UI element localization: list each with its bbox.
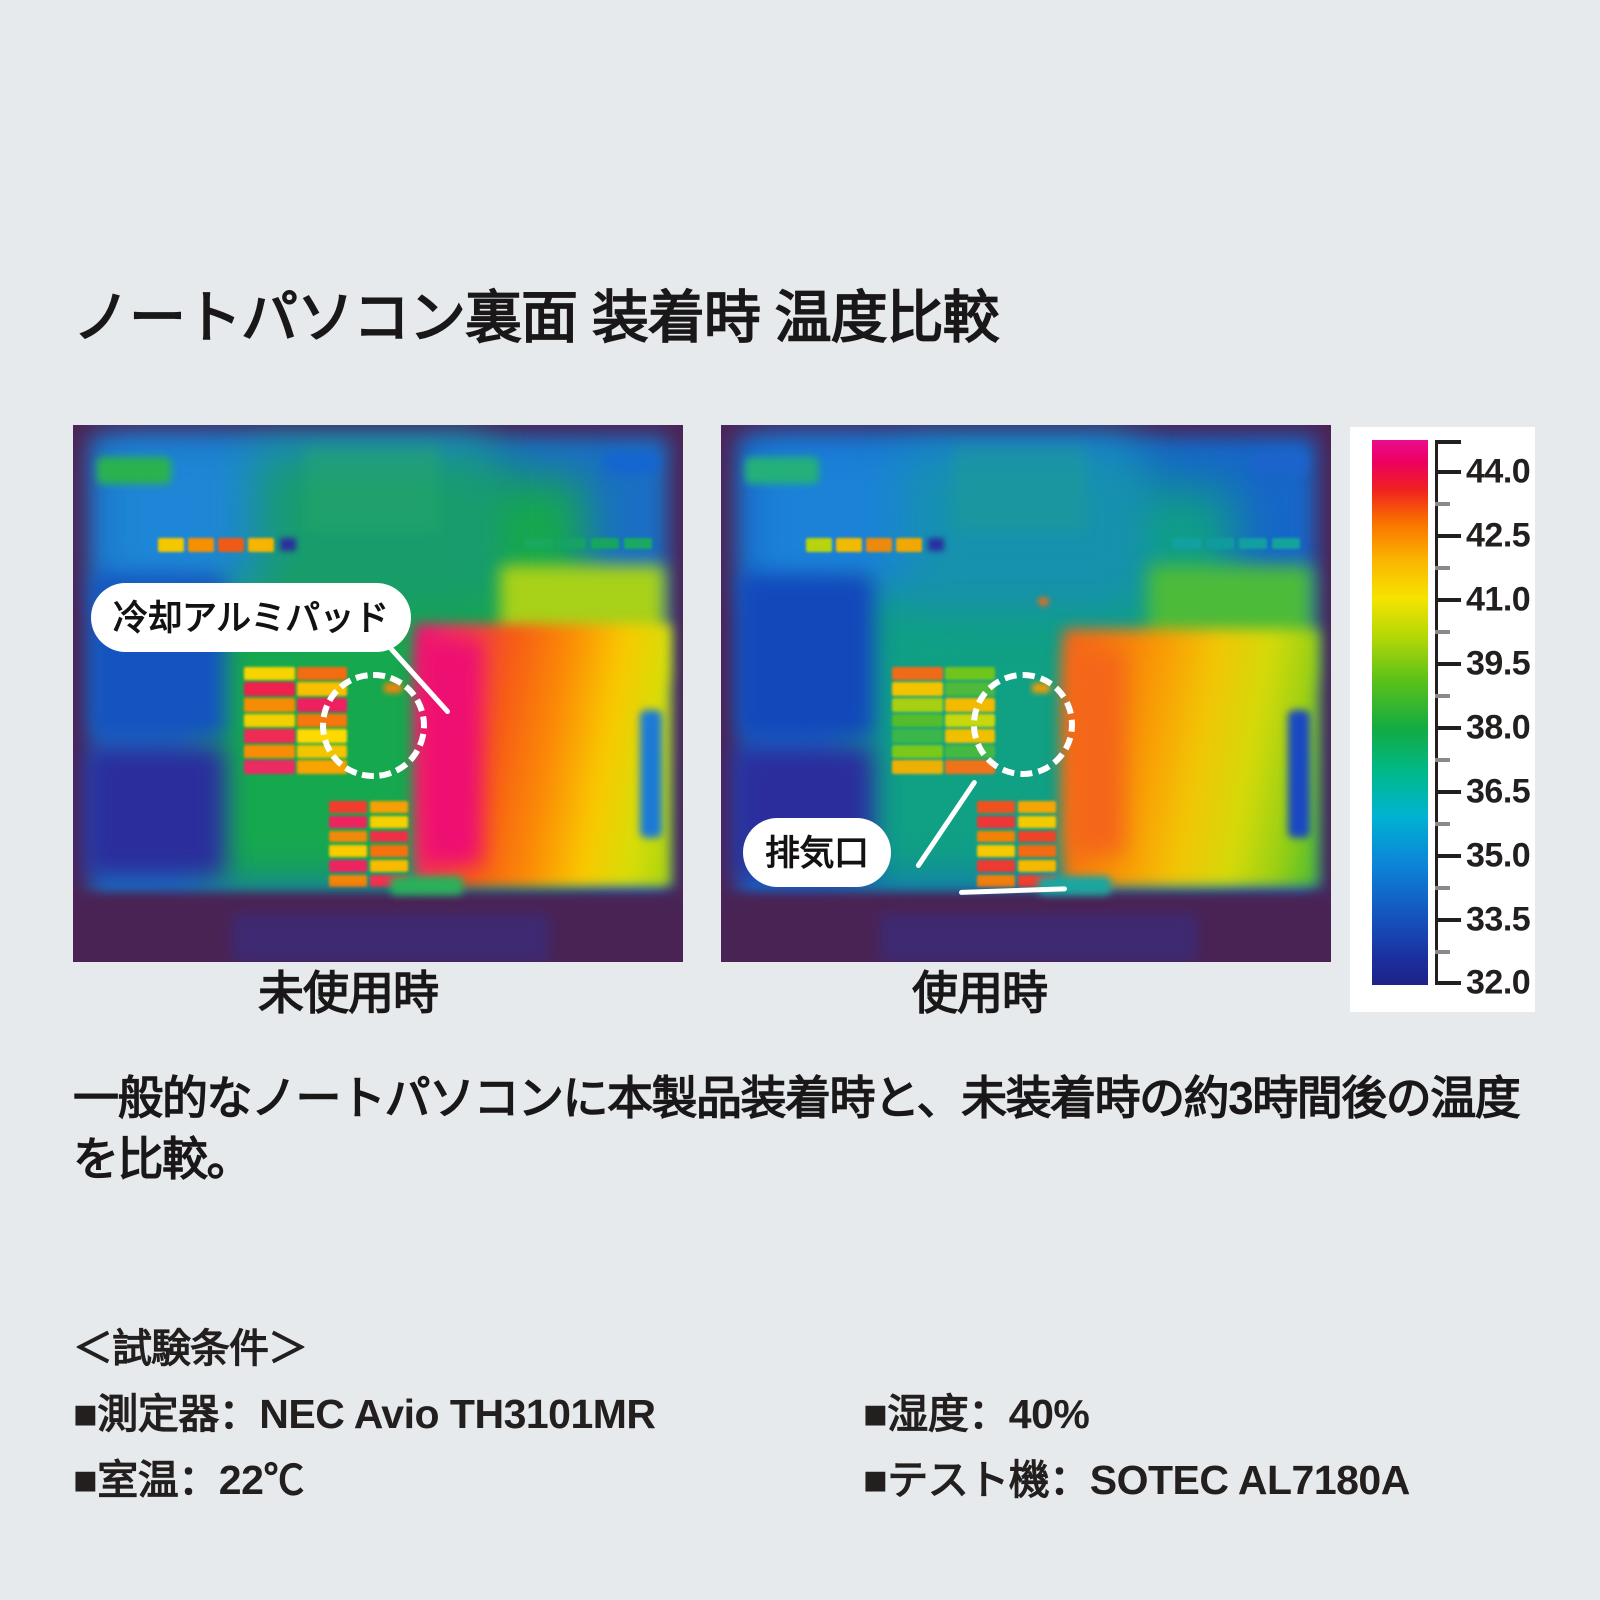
top-center-plate — [953, 446, 1087, 532]
cool-slot-right — [640, 710, 661, 839]
thermal-image-in-use: 排気口 — [721, 425, 1331, 962]
top-strip-cool-dot — [928, 538, 943, 551]
temperature-colorbar: 44.0 42.5 41.0 39.5 38.0 36.5 35.0 33.5 … — [1350, 427, 1535, 1012]
colorbar-label-41: 41.0 — [1466, 581, 1530, 620]
conditions-row-1: ■測定器：NEC Avio TH3101MR ■湿度：40% — [73, 1380, 1553, 1440]
colorbar-gradient — [1372, 440, 1428, 985]
colorbar-tick-41 — [1435, 598, 1461, 602]
colorbar-label-35: 35.0 — [1466, 837, 1530, 876]
top-left-green-tab — [97, 457, 170, 484]
colorbar-label-38: 38.0 — [1466, 709, 1530, 748]
colorbar-tick-35 — [1435, 854, 1461, 858]
vent-strip-top-right — [524, 538, 652, 549]
highlight-circle-pad — [320, 672, 427, 779]
colorbar-tick-32 — [1435, 981, 1461, 985]
colorbar-label-36-5: 36.5 — [1466, 773, 1530, 812]
colorbar-tick-cap-top — [1435, 440, 1461, 444]
colorbar-minor-3 — [1435, 630, 1450, 634]
hotspot-core — [421, 640, 482, 866]
colorbar-label-32: 32.0 — [1466, 964, 1530, 1003]
vent-grille-lower — [329, 801, 408, 887]
cool-slot-right — [1288, 710, 1309, 839]
colorbar-tick-38 — [1435, 726, 1461, 730]
colorbar-minor-6 — [1435, 822, 1450, 826]
colorbar-minor-8 — [1435, 950, 1450, 954]
condition-test-machine: ■テスト機：SOTEC AL7180A — [863, 1446, 1410, 1506]
hotspot-core — [1069, 651, 1124, 855]
caption-unused: 未使用時 — [258, 957, 438, 1023]
small-hot-dot — [1038, 597, 1049, 606]
left-cool-panel-lower — [85, 747, 225, 876]
colorbar-minor-2 — [1435, 566, 1450, 570]
conditions-heading: ＜試験条件＞ — [73, 1316, 1553, 1374]
colorbar-tick-39-5 — [1435, 662, 1461, 666]
condition-measuring-device: ■測定器：NEC Avio TH3101MR — [73, 1380, 863, 1440]
thermal-render-right: 排気口 — [721, 425, 1331, 962]
page-title: ノートパソコン裏面 装着時 温度比較 — [73, 272, 999, 354]
conditions-row-2: ■室温：22℃ ■テスト機：SOTEC AL7180A — [73, 1446, 1553, 1506]
colorbar-minor-4 — [1435, 694, 1450, 698]
conditions-col-right-1: ■湿度：40% — [863, 1380, 1089, 1440]
callout-exhaust-vent: 排気口 — [743, 818, 891, 887]
description-text: 一般的なノートパソコンに本製品装着時と、未装着時の約3時間後の温度を比較。 — [73, 1068, 1553, 1190]
colorbar-tick-42-5 — [1435, 534, 1461, 538]
colorbar-axis-line — [1435, 440, 1438, 985]
colorbar-minor-5 — [1435, 758, 1450, 762]
callout-cooling-pad: 冷却アルミパッド — [91, 583, 411, 652]
colorbar-label-39-5: 39.5 — [1466, 645, 1530, 684]
top-strip-cool-dot — [280, 538, 295, 551]
conditions-col-right-2: ■テスト機：SOTEC AL7180A — [863, 1446, 1410, 1506]
colorbar-label-42-5: 42.5 — [1466, 517, 1530, 556]
colorbar-minor-1 — [1435, 502, 1450, 506]
vent-strip-top-right — [1172, 538, 1300, 549]
caption-in-use: 使用時 — [912, 957, 1047, 1023]
top-center-plate — [305, 446, 439, 532]
colorbar-tick-33-5 — [1435, 918, 1461, 922]
colorbar-minor-7 — [1435, 886, 1450, 890]
test-conditions: ＜試験条件＞ ■測定器：NEC Avio TH3101MR ■湿度：40% ■室… — [73, 1316, 1553, 1506]
conditions-col-left-1: ■測定器：NEC Avio TH3101MR — [73, 1380, 863, 1440]
highlight-circle-pad — [971, 672, 1075, 777]
top-right-cool-tab — [604, 452, 659, 473]
bottom-green-foot — [390, 876, 463, 895]
condition-humidity: ■湿度：40% — [863, 1380, 1089, 1440]
colorbar-label-44: 44.0 — [1466, 453, 1530, 492]
condition-room-temperature: ■室温：22℃ — [73, 1446, 863, 1506]
colorbar-tick-36-5 — [1435, 790, 1461, 794]
top-right-cool-tab — [1252, 452, 1307, 473]
vent-strip-top — [806, 538, 922, 552]
thermal-image-unused: 冷却アルミパッド — [73, 425, 683, 962]
thermal-render-left: 冷却アルミパッド — [73, 425, 683, 962]
left-cool-panel-upper — [739, 575, 873, 736]
colorbar-label-33-5: 33.5 — [1466, 901, 1530, 940]
colorbar-tick-44 — [1435, 470, 1461, 474]
vent-strip-top — [158, 538, 274, 552]
top-left-green-tab — [745, 457, 818, 484]
bottom-edge-strip — [880, 914, 1197, 962]
bottom-edge-strip — [232, 914, 549, 962]
conditions-col-left-2: ■室温：22℃ — [73, 1446, 863, 1506]
bottom-green-foot — [1038, 876, 1111, 895]
vent-grille-lower-exhaust — [977, 801, 1056, 887]
